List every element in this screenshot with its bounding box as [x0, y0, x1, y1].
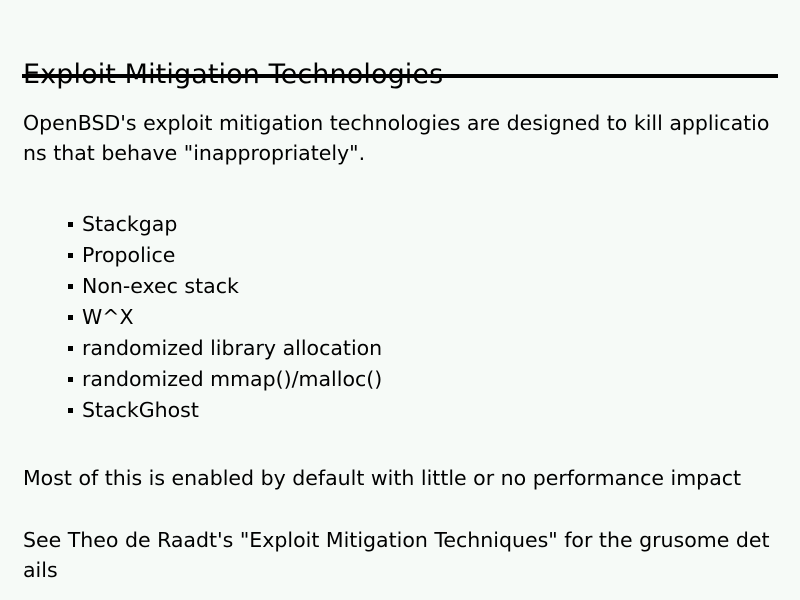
list-item: Stackgap: [45, 209, 779, 240]
square-bullet-icon: [68, 377, 73, 382]
list-item-label: Stackgap: [82, 212, 177, 236]
title-underline-rule: [22, 74, 778, 78]
square-bullet-icon: [68, 222, 73, 227]
list-item-label: Non-exec stack: [82, 274, 239, 298]
square-bullet-icon: [68, 346, 73, 351]
list-item-label: randomized library allocation: [82, 336, 382, 360]
list-item-label: W^X: [82, 305, 134, 329]
list-item: randomized mmap()/malloc(): [45, 364, 779, 395]
closing-paragraph-two: See Theo de Raadt's "Exploit Mitigation …: [23, 525, 779, 585]
list-item-label: StackGhost: [82, 398, 199, 422]
list-item: StackGhost: [45, 395, 779, 426]
intro-paragraph: OpenBSD's exploit mitigation technologie…: [23, 108, 779, 168]
list-item-label: randomized mmap()/malloc(): [82, 367, 382, 391]
square-bullet-icon: [68, 315, 73, 320]
square-bullet-icon: [68, 408, 73, 413]
list-item: Propolice: [45, 240, 779, 271]
slide-body: OpenBSD's exploit mitigation technologie…: [23, 108, 779, 168]
slide: Exploit Mitigation Technologies OpenBSD'…: [0, 0, 800, 600]
square-bullet-icon: [68, 284, 73, 289]
list-item: W^X: [45, 302, 779, 333]
closing-paragraph-one: Most of this is enabled by default with …: [23, 463, 779, 493]
mitigation-technology-list: Stackgap Propolice Non-exec stack W^X ra…: [45, 209, 779, 426]
square-bullet-icon: [68, 253, 73, 258]
list-item: Non-exec stack: [45, 271, 779, 302]
list-item-label: Propolice: [82, 243, 175, 267]
list-item: randomized library allocation: [45, 333, 779, 364]
